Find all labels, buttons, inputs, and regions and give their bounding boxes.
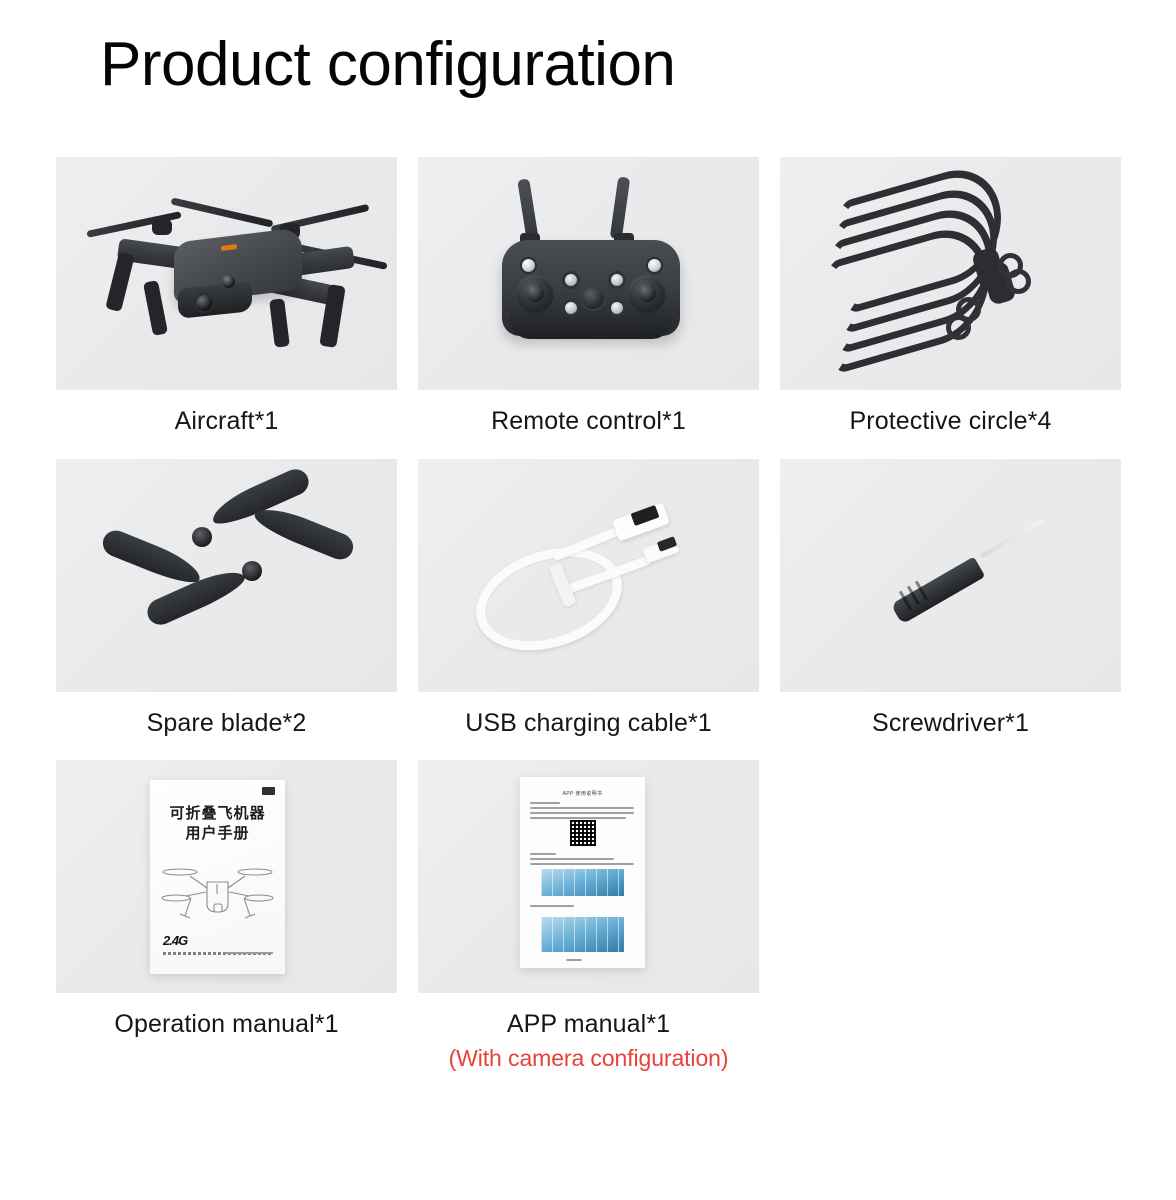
product-configuration-grid: Aircraft*1 Remote control*1: [56, 157, 1122, 1072]
remote-control-icon: [418, 157, 759, 390]
product-item-operation-manual[interactable]: 可折叠飞机器 用户手册: [56, 760, 397, 1072]
propeller-blade-icon: [56, 459, 397, 692]
product-image-aircraft[interactable]: [56, 157, 397, 390]
product-label-aircraft: Aircraft*1: [56, 406, 397, 438]
manual-cover-title: 可折叠飞机器 用户手册: [150, 803, 285, 843]
product-item-protective-circle[interactable]: Protective circle*4: [780, 157, 1121, 438]
product-label-app-manual: APP manual*1 (With camera configuration): [418, 1009, 759, 1072]
product-item-spare-blade[interactable]: Spare blade*2: [56, 459, 397, 740]
usb-cable-icon: [418, 459, 759, 692]
screwdriver-icon: [780, 459, 1121, 692]
product-label-app-manual-main: APP manual*1: [507, 1010, 670, 1038]
product-label-remote-control: Remote control*1: [418, 406, 759, 438]
manual-badge-24g: [262, 787, 275, 795]
product-label-spare-blade: Spare blade*2: [56, 708, 397, 740]
product-label-screwdriver: Screwdriver*1: [780, 708, 1121, 740]
product-item-screwdriver[interactable]: Screwdriver*1: [780, 459, 1121, 740]
manual-cover-logo: 2.4G: [163, 933, 187, 948]
app-manual-heading: APP 使用说明书: [520, 790, 645, 797]
product-item-remote-control[interactable]: Remote control*1: [418, 157, 759, 438]
drone-icon: [56, 157, 397, 390]
product-item-app-manual[interactable]: APP 使用说明书 APP manual*1 (With c: [418, 760, 759, 1072]
product-image-usb-charging-cable[interactable]: [418, 459, 759, 692]
product-label-operation-manual: Operation manual*1: [56, 1009, 397, 1041]
manual-booklet-icon: 可折叠飞机器 用户手册: [56, 760, 397, 993]
product-label-usb-charging-cable: USB charging cable*1: [418, 708, 759, 740]
propeller-guard-icon: [780, 157, 1121, 390]
product-image-app-manual[interactable]: APP 使用说明书: [418, 760, 759, 993]
product-image-protective-circle[interactable]: [780, 157, 1121, 390]
product-image-spare-blade[interactable]: [56, 459, 397, 692]
product-image-operation-manual[interactable]: 可折叠飞机器 用户手册: [56, 760, 397, 993]
product-item-aircraft[interactable]: Aircraft*1: [56, 157, 397, 438]
product-image-screwdriver[interactable]: [780, 459, 1121, 692]
product-image-remote-control[interactable]: [418, 157, 759, 390]
qr-code-icon: [570, 820, 596, 846]
product-label-protective-circle: Protective circle*4: [780, 406, 1121, 438]
page-title: Product configuration: [100, 34, 675, 96]
product-note-app-manual: (With camera configuration): [418, 1044, 759, 1073]
product-item-usb-charging-cable[interactable]: USB charging cable*1: [418, 459, 759, 740]
manual-cover-drone-illustration: [160, 858, 275, 930]
app-manual-sheet-icon: APP 使用说明书: [418, 760, 759, 993]
empty-grid-cell: [780, 760, 1121, 1072]
